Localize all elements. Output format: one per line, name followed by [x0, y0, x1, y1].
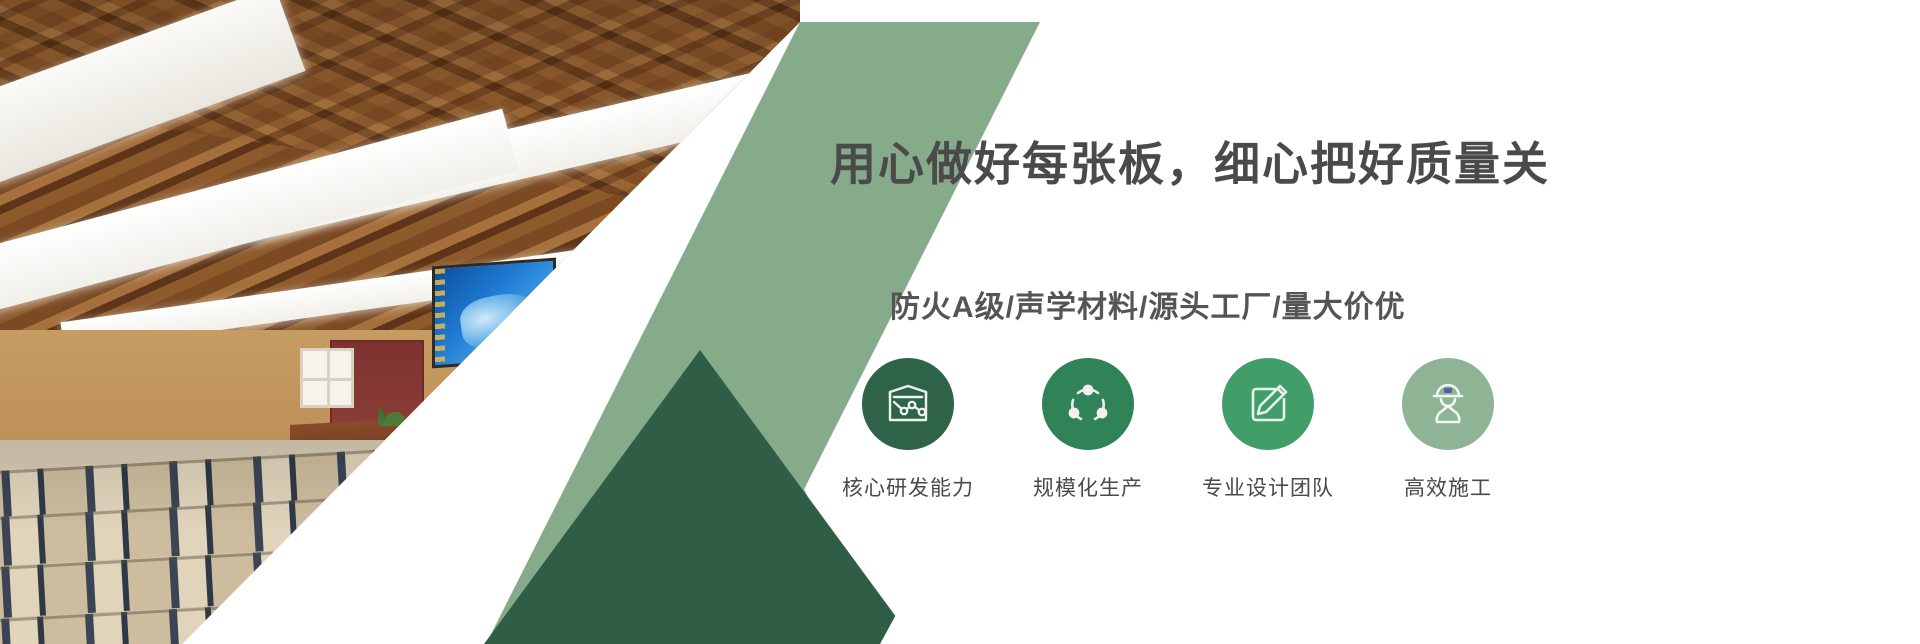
- rnd-box-chart-icon: [882, 378, 934, 430]
- feature-item-design[interactable]: 专业设计团队: [1204, 358, 1332, 502]
- banner-content: 用心做好每张板，细心把好质量关 防火A级/声学材料/源头工厂/量大价优: [830, 0, 1830, 644]
- feature-item-rnd[interactable]: 核心研发能力: [844, 358, 972, 502]
- feature-label: 高效施工: [1404, 472, 1492, 502]
- feature-label: 核心研发能力: [842, 472, 974, 502]
- banner-subline: 防火A级/声学材料/源头工厂/量大价优: [890, 282, 1406, 326]
- feature-icon-circle: [1402, 358, 1494, 450]
- feature-icon-circle: [1042, 358, 1134, 450]
- hardhat-worker-icon: [1422, 378, 1474, 430]
- feature-icon-circle: [1222, 358, 1314, 450]
- feature-item-production[interactable]: 规模化生产: [1024, 358, 1152, 502]
- network-share-icon: [1062, 378, 1114, 430]
- feature-label: 规模化生产: [1033, 472, 1143, 502]
- feature-icon-circle: [862, 358, 954, 450]
- feature-label: 专业设计团队: [1202, 472, 1334, 502]
- feature-list: 核心研发能力 规模化生产: [844, 358, 1512, 502]
- banner-headline: 用心做好每张板，细心把好质量关: [830, 128, 1550, 194]
- hero-banner: 用心做好每张板，细心把好质量关 防火A级/声学材料/源头工厂/量大价优: [0, 0, 1920, 644]
- feature-item-construction[interactable]: 高效施工: [1384, 358, 1512, 502]
- edit-square-pencil-icon: [1242, 378, 1294, 430]
